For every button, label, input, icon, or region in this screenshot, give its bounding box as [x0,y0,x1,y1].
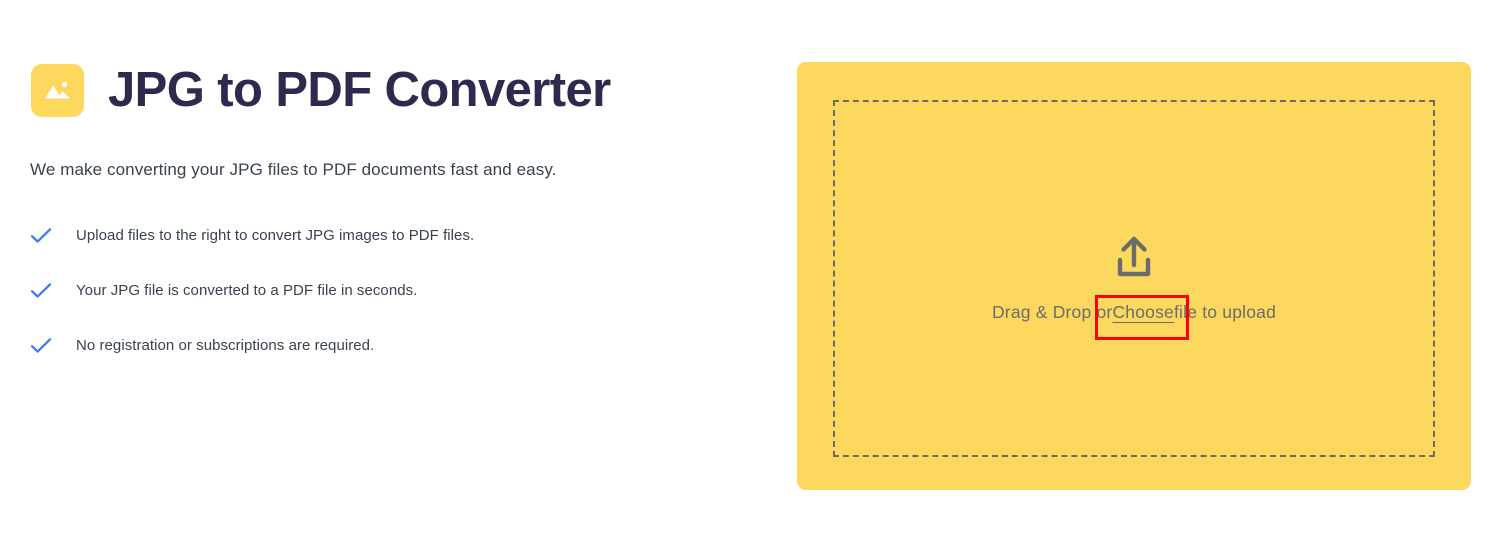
dropzone-instructions: Drag & Drop or Choose file to upload [992,302,1276,323]
image-icon [31,64,84,117]
page-header: JPG to PDF Converter [31,64,611,117]
check-icon [30,281,76,299]
page-title: JPG to PDF Converter [108,66,611,115]
choose-file-link[interactable]: Choose [1112,302,1174,323]
feature-list: Upload files to the right to convert JPG… [30,226,650,391]
upload-icon [1110,234,1158,280]
page-root: JPG to PDF Converter We make converting … [0,0,1497,534]
list-item: Upload files to the right to convert JPG… [30,226,650,281]
file-dropzone[interactable]: Drag & Drop or Choose file to upload [833,100,1435,457]
check-icon [30,226,76,244]
check-icon [30,336,76,354]
feature-label: Upload files to the right to convert JPG… [76,226,474,246]
feature-label: No registration or subscriptions are req… [76,336,374,356]
list-item: Your JPG file is converted to a PDF file… [30,281,650,336]
info-column: JPG to PDF Converter We make converting … [0,0,760,534]
upload-panel: Drag & Drop or Choose file to upload [797,62,1471,490]
dropzone-text-after: file to upload [1174,302,1276,323]
dropzone-text-before: Drag & Drop or [992,302,1112,323]
list-item: No registration or subscriptions are req… [30,336,650,391]
page-subtitle: We make converting your JPG files to PDF… [30,160,557,180]
feature-label: Your JPG file is converted to a PDF file… [76,281,417,301]
